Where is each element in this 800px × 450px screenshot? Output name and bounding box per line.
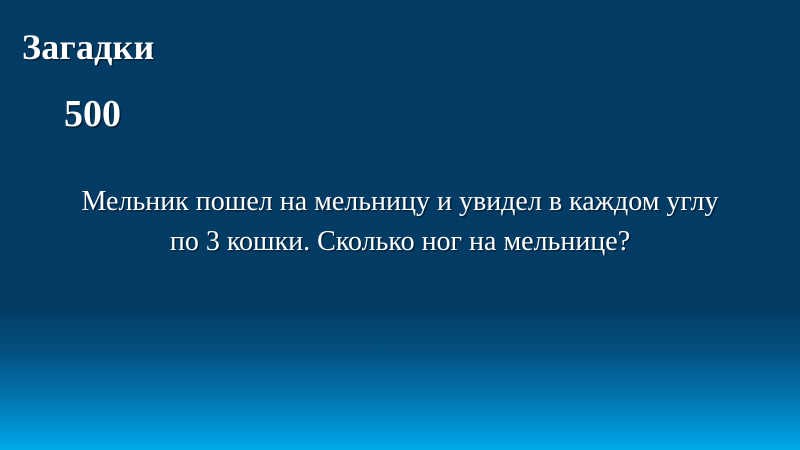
question-value-label: 500 xyxy=(64,94,121,136)
quiz-slide: Загадки 500 Мельник пошел на мельницу и … xyxy=(0,0,800,450)
question-text: Мельник пошел на мельницу и увидел в каж… xyxy=(70,182,730,262)
category-title: Загадки xyxy=(22,28,154,68)
question-block: Мельник пошел на мельницу и увидел в каж… xyxy=(70,182,730,262)
